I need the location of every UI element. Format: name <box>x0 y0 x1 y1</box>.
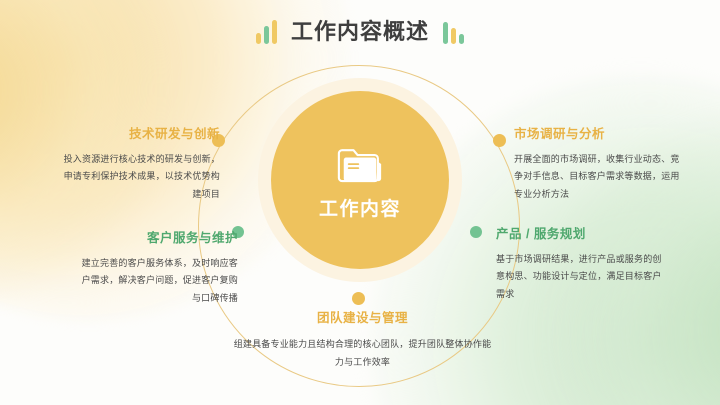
decor-bar-right-1 <box>443 22 448 44</box>
content-body-product-planning: 基于市场调研结果，进行产品或服务的创意构思、功能设计与定位，满足目标客户需求 <box>496 251 664 304</box>
slide-canvas: 工作内容概述 工作内容 技术研发与创新 投入资源进行核心技术的研发与创新，申请专… <box>0 0 720 405</box>
content-body-customer-service: 建立完善的客户服务体系，及时响应客户需求，解决客户问题，促进客户复购与口碑传播 <box>78 255 238 308</box>
content-heading-product-planning: 产品 / 服务规划 <box>496 228 664 241</box>
center-hub-label: 工作内容 <box>319 200 401 219</box>
content-body-market-research: 开展全面的市场调研，收集行业动态、竞争对手信息、目标客户需求等数据，运用专业分析… <box>514 151 682 204</box>
connector-dot-top-right <box>493 134 506 147</box>
decor-bar-right-2 <box>451 28 456 44</box>
content-body-tech-rd: 投入资源进行核心技术的研发与创新，申请专利保护技术成果，以技术优势构建项目 <box>60 151 220 204</box>
folder-icon <box>334 142 386 186</box>
decor-bar-left-1 <box>256 33 261 44</box>
connector-dot-mid-right <box>470 226 482 238</box>
decor-bar-right-3 <box>459 34 464 44</box>
content-block-tech-rd: 技术研发与创新 投入资源进行核心技术的研发与创新，申请专利保护技术成果，以技术优… <box>60 128 220 203</box>
connector-dot-bottom <box>352 292 365 305</box>
page-title: 工作内容概述 <box>291 21 429 43</box>
center-hub: 工作内容 <box>271 91 449 269</box>
content-block-product-planning: 产品 / 服务规划 基于市场调研结果，进行产品或服务的创意构思、功能设计与定位，… <box>496 228 664 303</box>
slide-title-row: 工作内容概述 <box>0 20 720 44</box>
content-heading-team-building: 团队建设与管理 <box>230 312 495 325</box>
decor-bar-left-3 <box>272 20 277 44</box>
content-heading-customer-service: 客户服务与维护 <box>78 232 238 245</box>
content-block-customer-service: 客户服务与维护 建立完善的客户服务体系，及时响应客户需求，解决客户问题，促进客户… <box>78 232 238 307</box>
bar-chart-decoration-left <box>256 20 277 44</box>
content-heading-market-research: 市场调研与分析 <box>514 128 682 141</box>
content-heading-tech-rd: 技术研发与创新 <box>60 128 220 141</box>
content-block-team-building: 团队建设与管理 组建具备专业能力且结构合理的核心团队，提升团队整体协作能力与工作… <box>230 312 495 371</box>
bar-chart-decoration-right <box>443 20 464 44</box>
content-body-team-building: 组建具备专业能力且结构合理的核心团队，提升团队整体协作能力与工作效率 <box>230 335 495 371</box>
decor-bar-left-2 <box>264 26 269 44</box>
content-block-market-research: 市场调研与分析 开展全面的市场调研，收集行业动态、竞争对手信息、目标客户需求等数… <box>514 128 682 203</box>
